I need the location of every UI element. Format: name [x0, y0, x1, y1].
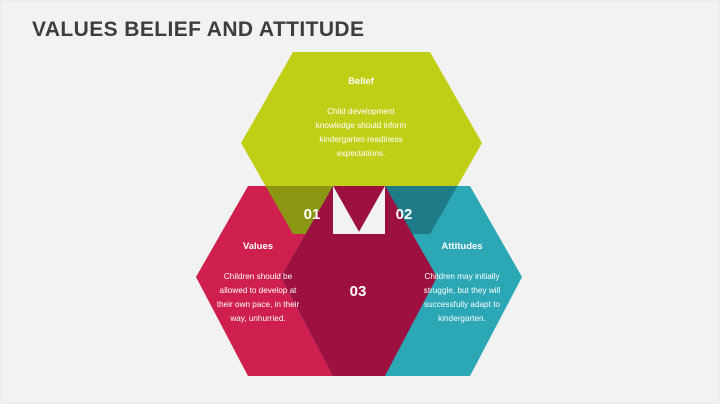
hexagon-belief-body-line-1: Child development	[327, 107, 396, 116]
overlap-01-number: 01	[304, 206, 321, 223]
hexagon-belief-body-line-3: kindergarten readiness	[319, 135, 402, 144]
hexagon-values-body-line-4: way, unhurried.	[229, 314, 285, 323]
hexagon-values-body-line-2: allowed to develop at	[220, 286, 298, 295]
slide-canvas: VALUES BELIEF AND ATTITUDE	[0, 0, 720, 404]
hexagon-attitudes-body-line-4: kindergarten.	[438, 314, 486, 323]
hexagon-belief-body-line-2: knowledge should inform	[316, 121, 407, 130]
hexagon-attitudes-title: Attitudes	[441, 241, 482, 252]
hexagon-values-body-line-1: Children should be	[224, 272, 293, 281]
hexagon-venn-diagram: Belief Child development knowledge shoul…	[0, 0, 720, 404]
hexagon-values-title: Values	[243, 241, 273, 252]
hexagon-belief-title: Belief	[348, 76, 375, 87]
overlap-02-number: 02	[396, 206, 413, 223]
hexagon-attitudes-body-line-3: successfully adapt to	[424, 300, 500, 309]
overlap-03-number: 03	[350, 283, 367, 300]
hexagon-attitudes-body-line-1: Children may initially	[424, 272, 500, 281]
hexagon-values-body-line-3: their own pace, in their	[217, 300, 300, 309]
hexagon-belief-body-line-4: expectations.	[337, 149, 385, 158]
hexagon-attitudes-body-line-2: struggle, but they will	[424, 286, 501, 295]
